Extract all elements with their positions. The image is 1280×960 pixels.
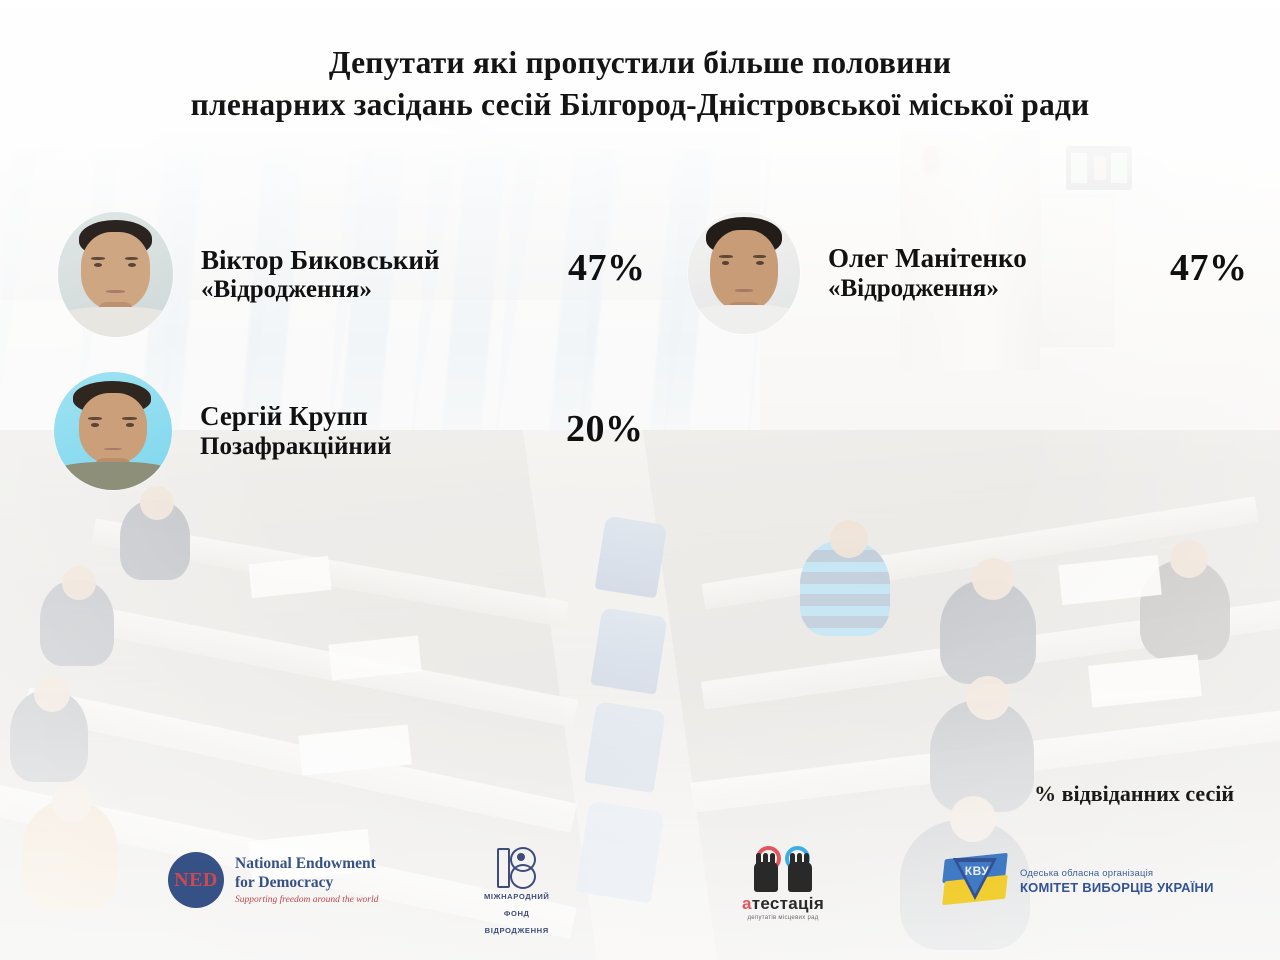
footer-logos: NED National Endowment for Democracy Sup…: [0, 844, 1280, 936]
ned-line-2: for Democracy: [235, 874, 378, 893]
deputy-name: Олег Манітенко: [828, 243, 1027, 273]
deputy-label-3: Сергій Крупп Позафракційний: [200, 401, 392, 460]
ned-tagline: Supporting freedom around the world: [235, 895, 378, 905]
deputy-label-1: Віктор Биковський «Відродження»: [201, 245, 440, 304]
kvu-line-1: Одеська обласна організація: [1020, 868, 1214, 879]
kvu-emblem-icon: КВУ: [944, 854, 1010, 908]
deputy-row-3: Сергій Крупп Позафракційний: [54, 372, 392, 490]
logo-ned: NED National Endowment for Democracy Sup…: [168, 852, 378, 908]
title-line-1: Депутати які пропустили більше половини: [0, 42, 1280, 84]
irf-line-1: МІЖНАРОДНИЙ: [484, 891, 549, 903]
deputy-party: «Відродження»: [828, 274, 1027, 303]
kvu-line-2: КОМІТЕТ ВИБОРЦІВ УКРАЇНИ: [1020, 880, 1214, 895]
deputy-percent-2: 47%: [1170, 246, 1248, 290]
logo-irf: МІЖНАРОДНИЙ ФОНД ВІДРОДЖЕННЯ: [484, 846, 549, 936]
page-title: Депутати які пропустили більше половини …: [0, 42, 1280, 125]
avatar-oleh-manitenko: [688, 212, 800, 334]
kvu-abbr: КВУ: [957, 864, 997, 878]
deputy-name: Віктор Биковський: [201, 245, 440, 275]
deputy-row-2: Олег Манітенко «Відродження»: [688, 212, 1027, 334]
irf-mark-icon: [495, 846, 539, 886]
atestatsiya-subtitle: депутатів місцевих рад: [748, 915, 819, 921]
irf-line-3: ВІДРОДЖЕННЯ: [485, 925, 549, 937]
deputy-party: «Відродження»: [201, 275, 440, 304]
title-line-2: пленарних засідань сесій Білгород-Дністр…: [0, 84, 1280, 126]
deputy-percent-1: 47%: [568, 246, 646, 290]
ned-abbr: NED: [174, 869, 218, 892]
deputy-name: Сергій Крупп: [200, 401, 392, 431]
infographic-canvas: Депутати які пропустили більше половини …: [0, 0, 1280, 960]
avatar-viktor-bykovskyi: [58, 212, 173, 337]
deputy-percent-3: 20%: [566, 407, 644, 451]
atestatsiya-wordmark: атестація: [742, 894, 824, 914]
ned-circle-icon: NED: [168, 852, 224, 908]
logo-atestatsiya: атестація депутатів місцевих рад: [742, 846, 824, 921]
atestatsiya-hands-icon: [750, 846, 816, 892]
logo-kvu: КВУ Одеська обласна організація КОМІТЕТ …: [944, 854, 1214, 908]
content-layer: Депутати які пропустили більше половини …: [0, 0, 1280, 960]
ned-line-1: National Endowment: [235, 855, 378, 874]
deputy-label-2: Олег Манітенко «Відродження»: [828, 243, 1027, 302]
avatar-serhii-krupp: [54, 372, 172, 490]
deputy-party: Позафракційний: [200, 432, 392, 461]
deputy-row-1: Віктор Биковський «Відродження»: [58, 212, 440, 337]
irf-line-2: ФОНД: [504, 908, 530, 920]
chart-caption: % відвіданних сесій: [1034, 781, 1234, 807]
atestatsiya-accent-letter: а: [742, 894, 752, 913]
atestatsiya-word-rest: тестація: [752, 894, 824, 913]
